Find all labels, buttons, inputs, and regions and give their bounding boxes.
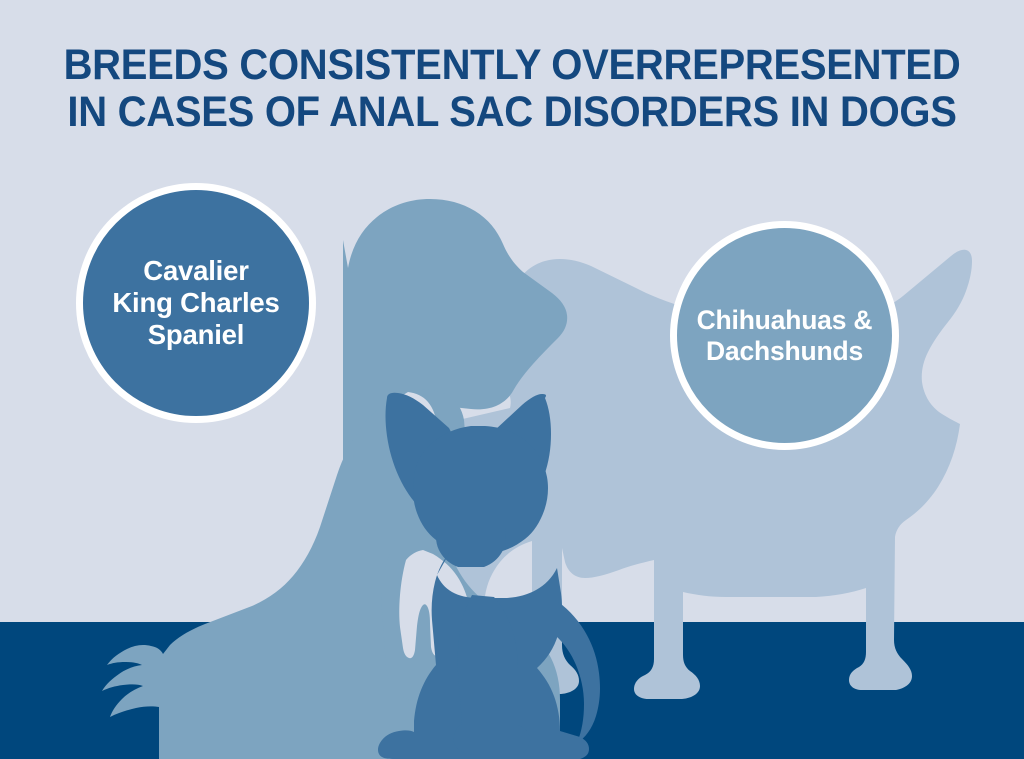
badge-left-line-2: King Charles <box>112 287 279 319</box>
badge-left-text: Cavalier King Charles Spaniel <box>104 255 287 351</box>
badge-left-line-1: Cavalier <box>112 255 279 287</box>
badge-right-text: Chihuahuas & Dachshunds <box>689 305 881 366</box>
badge-chihuahuas-and-dachshunds[interactable]: Chihuahuas & Dachshunds <box>670 221 899 450</box>
badge-left-line-3: Spaniel <box>112 319 279 351</box>
page-title: BREEDS CONSISTENTLY OVERREPRESENTED IN C… <box>0 42 1024 136</box>
title-line-1: BREEDS CONSISTENTLY OVERREPRESENTED <box>36 42 988 89</box>
title-line-2: IN CASES OF ANAL SAC DISORDERS IN DOGS <box>36 89 988 136</box>
badge-right-line-2: Dachshunds <box>697 336 873 367</box>
infographic-canvas: BREEDS CONSISTENTLY OVERREPRESENTED IN C… <box>0 0 1024 759</box>
badge-right-line-1: Chihuahuas & <box>697 305 873 336</box>
badge-cavalier-king-charles-spaniel[interactable]: Cavalier King Charles Spaniel <box>76 183 316 423</box>
